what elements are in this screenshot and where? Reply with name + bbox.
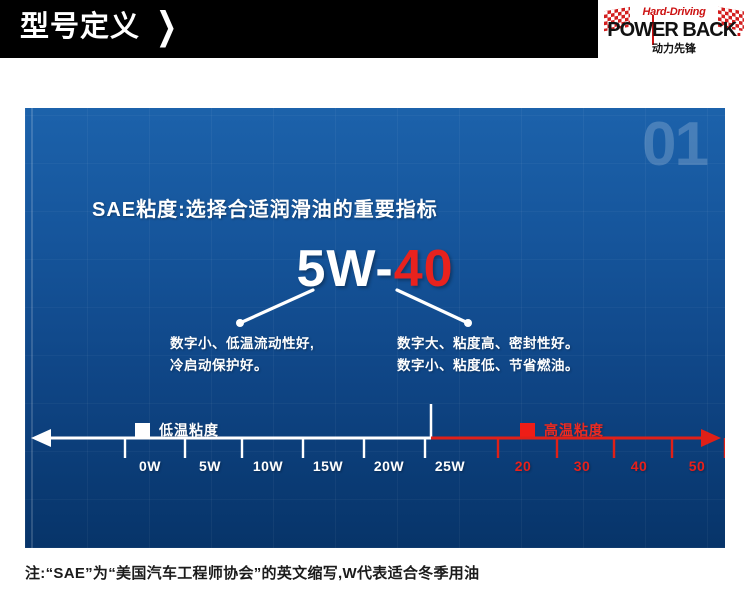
tick-label-20: 20 — [515, 458, 532, 474]
axis-arrow-left-icon — [31, 429, 51, 447]
description-hot-line-1: 数字大、粘度高、密封性好。 — [397, 333, 579, 355]
legend-swatch-red-icon — [520, 423, 535, 438]
panel-headline: SAE粘度:选择合适润滑油的重要指标 — [92, 193, 438, 222]
viscosity-axis — [25, 108, 725, 548]
tick-label-25w: 25W — [435, 458, 465, 474]
viscosity-grade-display: 5W-40 — [25, 240, 725, 298]
legend-swatch-white-icon — [135, 423, 150, 438]
tick-label-50: 50 — [689, 458, 706, 474]
axis-ticks-cold — [125, 438, 425, 458]
panel-left-accent-bar — [31, 108, 33, 548]
description-hot-line-2: 数字小、粘度低、节省燃油。 — [397, 355, 579, 377]
axis-ticks-hot — [498, 438, 725, 458]
chevron-right-icon: ❯ — [156, 6, 177, 49]
tick-label-0w: 0W — [139, 458, 161, 474]
panel-grid-texture — [25, 108, 725, 548]
grade-hot-part: 40 — [394, 240, 454, 298]
pointer-dot-left — [236, 319, 244, 327]
infographic-panel: 01 SAE粘度:选择合适润滑油的重要指标 5W-40 数字小、低温流动性好, … — [25, 108, 725, 548]
description-cold: 数字小、低温流动性好, 冷启动保护好。 — [170, 333, 314, 377]
description-cold-line-1: 数字小、低温流动性好, — [170, 333, 314, 355]
brand-name-group: POWER BACK. — [598, 19, 750, 41]
header-title-group: 型号定义 ❯ — [20, 8, 179, 46]
brand-tagline: Hard-Driving — [598, 6, 750, 18]
axis-arrow-right-icon — [701, 429, 721, 447]
tick-label-40: 40 — [631, 458, 648, 474]
description-cold-line-2: 冷启动保护好。 — [170, 355, 314, 377]
legend-cold-viscosity: 低温粘度 — [135, 420, 219, 440]
pointer-dot-right — [464, 319, 472, 327]
legend-hot-label: 高温粘度 — [544, 420, 604, 440]
brand-name: POWER BACK — [607, 19, 736, 41]
tick-label-10w: 10W — [253, 458, 283, 474]
brand-name-suffix: . — [736, 19, 741, 41]
brand-logo-inner: Hard-Driving POWER BACK. 动力先锋 — [598, 1, 750, 57]
tick-label-5w: 5W — [199, 458, 221, 474]
brand-chinese-name: 动力先锋 — [598, 40, 750, 56]
description-hot: 数字大、粘度高、密封性好。 数字小、粘度低、节省燃油。 — [397, 333, 579, 377]
legend-cold-label: 低温粘度 — [159, 420, 219, 440]
pointer-lines — [25, 108, 725, 548]
footnote-text: 注:“SAE”为“美国汽车工程师协会”的英文缩写,W代表适合冬季用油 — [25, 562, 479, 583]
tick-label-30: 30 — [574, 458, 591, 474]
grade-cold-part: 5W- — [296, 240, 393, 298]
page-title: 型号定义 — [20, 8, 140, 46]
tick-label-20w: 20W — [374, 458, 404, 474]
tick-label-15w: 15W — [313, 458, 343, 474]
brand-logo: Hard-Driving POWER BACK. 动力先锋 — [598, 0, 750, 58]
slide-number-watermark: 01 — [642, 110, 707, 180]
legend-hot-viscosity: 高温粘度 — [520, 420, 604, 440]
